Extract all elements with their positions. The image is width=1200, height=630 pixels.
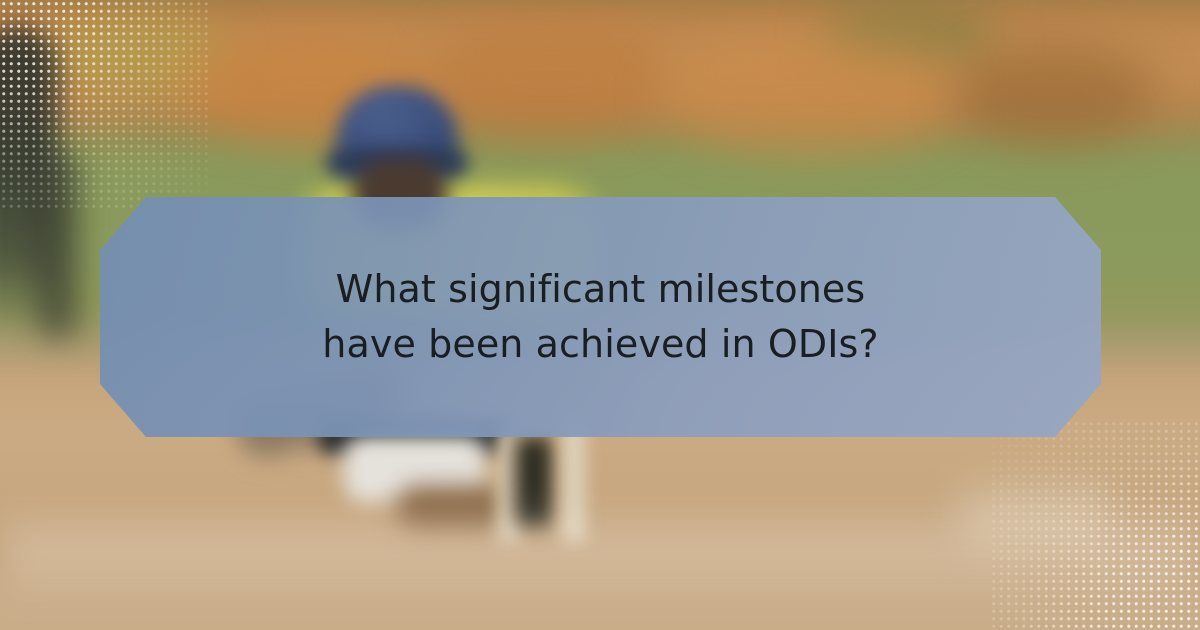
dirt-blotch — [660, 36, 960, 154]
cricket-stump-shadow — [516, 436, 552, 528]
dirt-blotch — [955, 44, 1155, 144]
background-person-silhouette — [38, 150, 78, 340]
question-text: What significant milestones have been ac… — [251, 262, 951, 372]
question-card-canvas: What significant milestones have been ac… — [0, 0, 1200, 630]
question-banner: What significant milestones have been ac… — [100, 197, 1101, 437]
dirt-blotch — [430, 18, 670, 138]
pitch-haze — [0, 520, 1200, 590]
